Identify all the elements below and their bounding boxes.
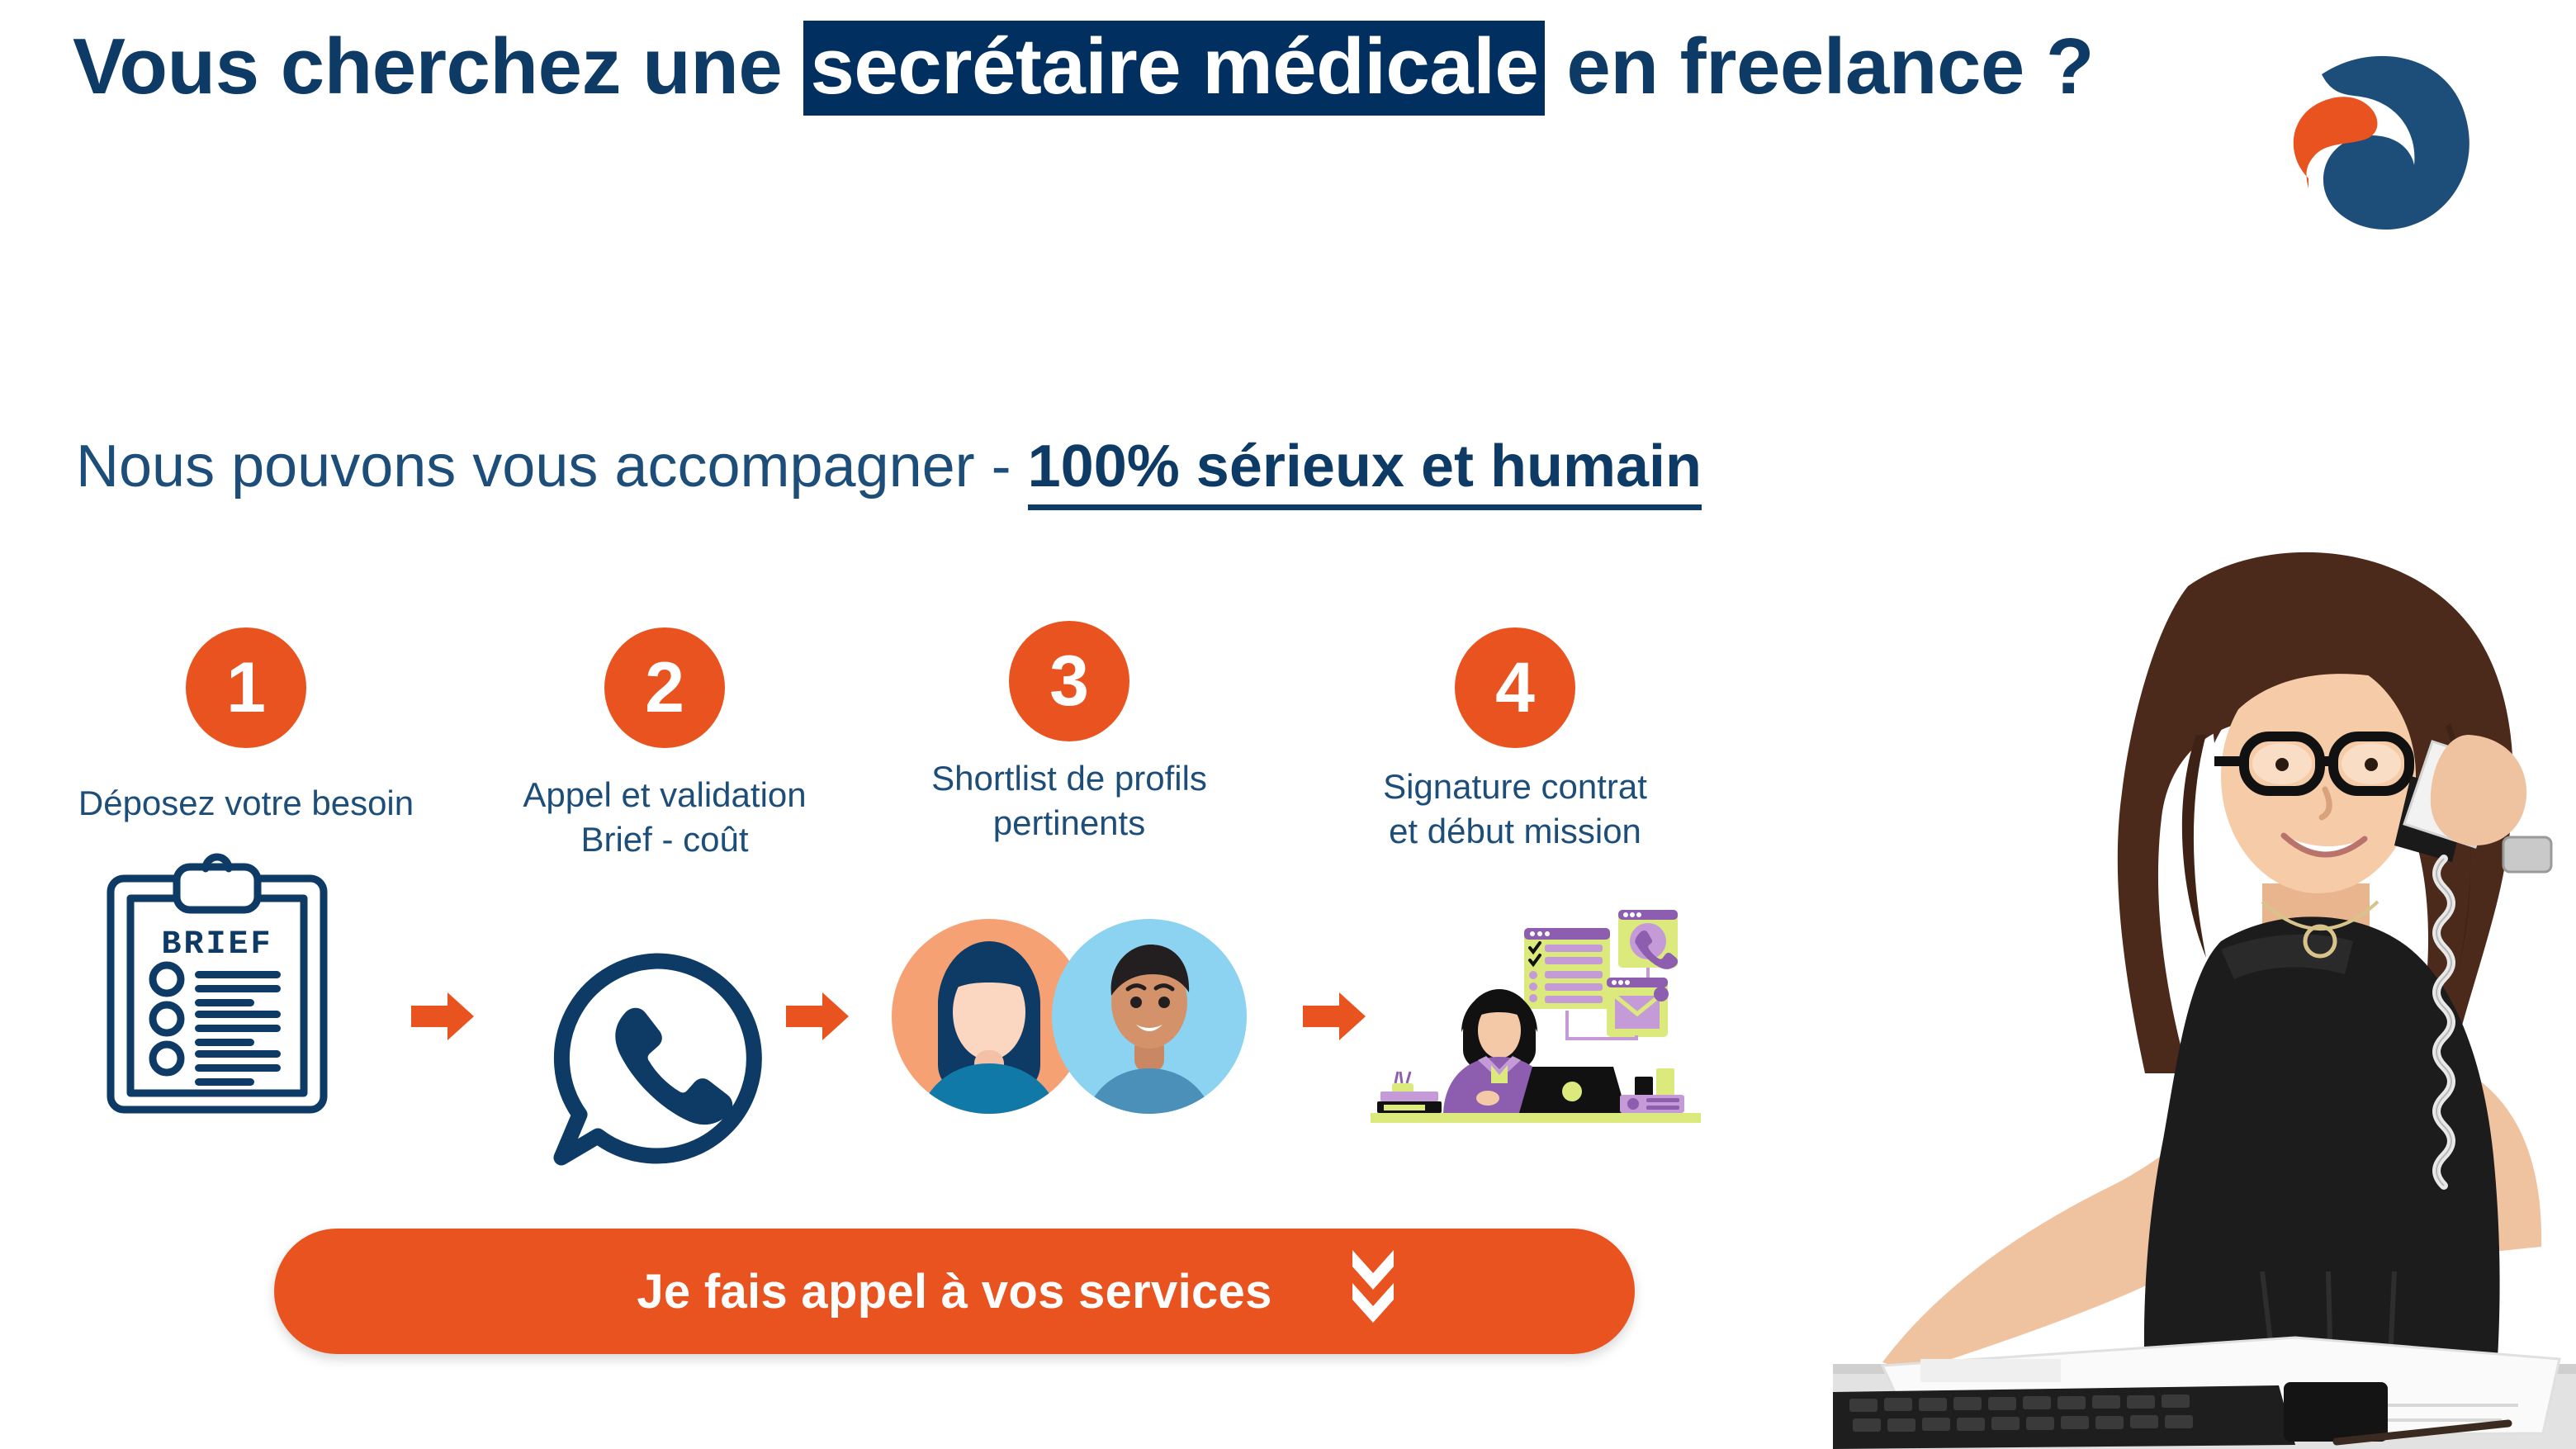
clipboard-brief-icon: BRIEF — [97, 847, 337, 1120]
slide-canvas: Vous cherchez une secrétaire médicale en… — [0, 0, 2576, 1449]
step-2-badge: 2 — [604, 627, 725, 748]
desk-printer — [1620, 1068, 1684, 1113]
desk-window-phone — [1618, 910, 1678, 969]
step-4-badge: 4 — [1455, 627, 1575, 748]
step-1: 1 Déposez votre besoin — [31, 627, 461, 826]
step-3-label: Shortlist de profils pertinents — [875, 756, 1263, 845]
step-1-label: Déposez votre besoin — [31, 781, 461, 826]
two-avatars-icon — [892, 897, 1247, 1136]
clipboard-brief-text: BRIEF — [161, 926, 272, 964]
step-arrow-icon-2 — [786, 991, 849, 1042]
double-chevron-down-icon — [1347, 1245, 1399, 1338]
desk-surface — [1371, 1113, 1701, 1123]
cta-label: Je fais appel à vos services — [637, 1264, 1271, 1319]
desk-book-1 — [1380, 1091, 1438, 1101]
step-1-badge: 1 — [186, 627, 306, 748]
company-logo[interactable] — [2272, 31, 2487, 246]
keyboard — [1833, 1385, 2295, 1449]
cta-button[interactable]: Je fais appel à vos services — [274, 1229, 1635, 1354]
step-4: 4 Signature contrat et début mission — [1321, 627, 1709, 854]
step-2-label: Appel et validation Brief - coût — [471, 773, 859, 862]
step-3: 3 Shortlist de profils pertinents — [875, 621, 1263, 845]
step-4-label: Signature contrat et début mission — [1321, 765, 1709, 854]
step-arrow-icon-3 — [1303, 991, 1366, 1042]
phone-bubble-icon — [545, 949, 768, 1172]
desk-window-mail — [1607, 978, 1669, 1037]
avatar-male — [1052, 919, 1247, 1136]
desk-window-checklist — [1524, 928, 1610, 1009]
secretary-on-phone-photo — [1833, 528, 2576, 1449]
step-arrow-icon-1 — [411, 991, 474, 1042]
smartphone — [2284, 1382, 2388, 1442]
desk-worker-icon — [1362, 892, 1709, 1131]
step-3-badge: 3 — [1009, 621, 1129, 741]
step-2: 2 Appel et validation Brief - coût — [471, 627, 859, 862]
steps-row: 1 Déposez votre besoin 2 Appel et valida… — [0, 0, 1816, 1156]
